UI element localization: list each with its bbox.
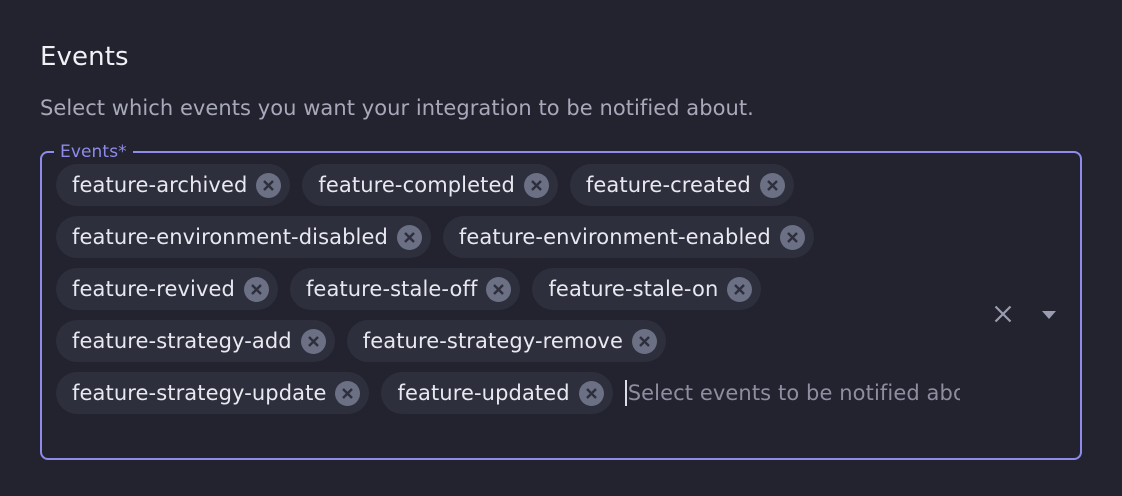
event-chip[interactable]: feature-strategy-remove [347, 320, 666, 362]
event-chip[interactable]: feature-revived [56, 268, 278, 310]
field-adornments [966, 164, 1066, 447]
chip-delete-icon[interactable] [301, 329, 326, 354]
page-title: Events [40, 40, 1082, 74]
event-chip-label: feature-stale-on [548, 268, 718, 310]
event-chip-label: feature-strategy-remove [363, 320, 623, 362]
chip-delete-icon[interactable] [486, 277, 511, 302]
events-multiselect-field[interactable]: Events* feature-archivedfeature-complete… [40, 151, 1082, 460]
chip-delete-icon[interactable] [397, 225, 422, 250]
selected-events-chip-list: feature-archivedfeature-completedfeature… [56, 164, 960, 447]
event-chip[interactable]: feature-strategy-add [56, 320, 335, 362]
chip-delete-icon[interactable] [256, 173, 281, 198]
chip-delete-icon[interactable] [244, 277, 269, 302]
heading-block: Events Select which events you want your… [40, 40, 1082, 122]
event-chip-label: feature-strategy-add [72, 320, 292, 362]
event-chip-label: feature-revived [72, 268, 235, 310]
text-caret [625, 380, 627, 406]
event-chip[interactable]: feature-archived [56, 164, 290, 206]
page-subtitle: Select which events you want your integr… [40, 94, 1082, 122]
open-dropdown-button[interactable] [1032, 297, 1066, 331]
clear-all-button[interactable] [986, 297, 1020, 331]
event-chip[interactable]: feature-environment-disabled [56, 216, 431, 258]
chip-delete-icon[interactable] [524, 173, 549, 198]
close-x-icon [990, 301, 1016, 327]
event-chip[interactable]: feature-updated [381, 372, 612, 414]
event-chip-label: feature-completed [318, 164, 515, 206]
chip-delete-icon[interactable] [780, 225, 805, 250]
events-settings-page: Events Select which events you want your… [0, 0, 1122, 496]
event-chip-label: feature-stale-off [306, 268, 478, 310]
chip-delete-icon[interactable] [727, 277, 752, 302]
events-search-input[interactable] [628, 372, 960, 414]
event-chip-label: feature-created [586, 164, 751, 206]
event-chip[interactable]: feature-environment-enabled [443, 216, 814, 258]
event-chip[interactable]: feature-created [570, 164, 794, 206]
chevron-down-icon [1037, 302, 1061, 326]
event-chip-label: feature-archived [72, 164, 247, 206]
event-chip-label: feature-updated [397, 372, 569, 414]
event-chip-label: feature-environment-enabled [459, 216, 771, 258]
chip-delete-icon[interactable] [335, 381, 360, 406]
event-chip[interactable]: feature-stale-off [290, 268, 521, 310]
event-chip-label: feature-strategy-update [72, 372, 326, 414]
event-chip[interactable]: feature-strategy-update [56, 372, 369, 414]
event-chip[interactable]: feature-completed [302, 164, 558, 206]
chip-delete-icon[interactable] [760, 173, 785, 198]
chip-delete-icon[interactable] [632, 329, 657, 354]
event-chip-label: feature-environment-disabled [72, 216, 388, 258]
event-chip[interactable]: feature-stale-on [532, 268, 761, 310]
events-input-wrapper[interactable] [625, 372, 960, 414]
events-field-inner: feature-archivedfeature-completedfeature… [42, 153, 1080, 458]
chip-delete-icon[interactable] [579, 381, 604, 406]
